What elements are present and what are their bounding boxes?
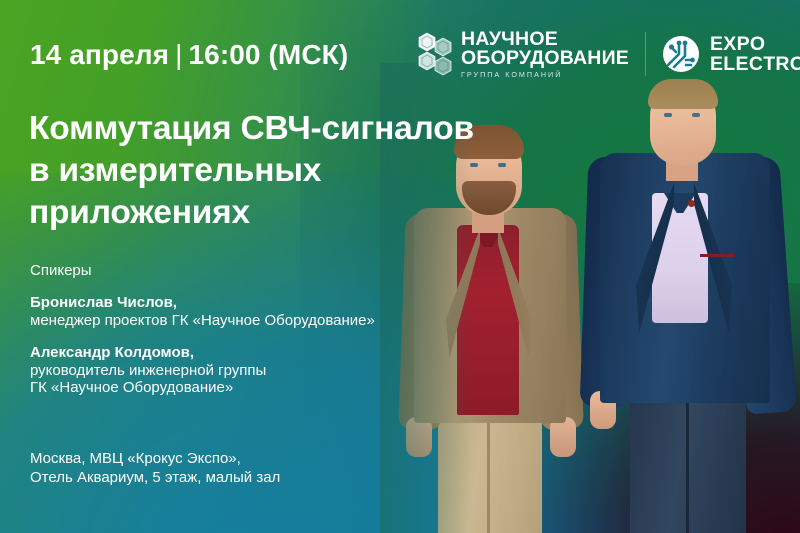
right-person-eye-left xyxy=(664,113,672,117)
right-person-eye-right xyxy=(692,113,700,117)
venue-line-1: Москва, МВЦ «Крокус Экспо», xyxy=(30,450,280,469)
venue-line-2: Отель Аквариум, 5 этаж, малый зал xyxy=(30,469,280,488)
speaker-role: менеджер проектов ГК «Научное Оборудован… xyxy=(30,312,450,330)
left-person-eye-right xyxy=(498,163,506,167)
logo-se-subtitle: ГРУППА КОМПАНИЙ xyxy=(461,71,629,78)
logo-divider xyxy=(645,32,646,76)
right-person-hair xyxy=(648,79,718,109)
speaker-item: Александр Колдомов, руководитель инженер… xyxy=(30,344,450,397)
page-title: Коммутация СВЧ-сигналов в измерительных … xyxy=(29,108,499,234)
left-person-hand-right xyxy=(550,417,576,457)
speakers-heading: Спикеры xyxy=(30,262,450,279)
title-line-2: в измерительных xyxy=(29,150,499,192)
title-line-1: Коммутация СВЧ-сигналов xyxy=(29,108,499,150)
speaker-name: Александр Колдомов, xyxy=(30,344,450,362)
logo-expo-electronica-text: EXPO ELECTRONICA xyxy=(710,34,800,74)
right-person-lapel-pin xyxy=(688,200,695,207)
left-person-hand-left xyxy=(406,417,432,457)
left-person-shirt xyxy=(457,225,519,415)
event-time: 16:00 (МСК) xyxy=(188,39,348,70)
webinar-banner: НАУЧНОЕ ОБОРУДОВАНИЕ ГРУППА КОМПАНИЙ xyxy=(0,0,800,533)
title-line-3: приложениях xyxy=(29,192,499,234)
hexagon-cluster-icon xyxy=(418,32,452,76)
speaker-name: Бронислав Числов, xyxy=(30,294,450,312)
event-datetime: 14 апреля|16:00 (МСК) xyxy=(30,39,348,71)
datetime-separator: | xyxy=(169,39,188,71)
speaker-photo-right xyxy=(578,63,788,533)
venue-address: Москва, МВЦ «Крокус Экспо», Отель Аквари… xyxy=(30,450,280,487)
logo-ee-line1: EXPO xyxy=(710,34,800,54)
logo-se-line2: ОБОРУДОВАНИЕ xyxy=(461,49,629,68)
speaker-role: руководитель инженерной группыГК «Научно… xyxy=(30,362,450,397)
expo-electronica-circle-icon xyxy=(662,35,700,73)
logo-scientific-equipment[interactable]: НАУЧНОЕ ОБОРУДОВАНИЕ ГРУППА КОМПАНИЙ xyxy=(418,30,629,78)
logo-ee-line2: ELECTRONICA xyxy=(710,54,800,74)
speakers-block: Спикеры Бронислав Числов, менеджер проек… xyxy=(30,262,450,412)
logo-scientific-equipment-text: НАУЧНОЕ ОБОРУДОВАНИЕ ГРУППА КОМПАНИЙ xyxy=(461,30,629,78)
logo-row: НАУЧНОЕ ОБОРУДОВАНИЕ ГРУППА КОМПАНИЙ xyxy=(418,30,800,78)
speaker-item: Бронислав Числов, менеджер проектов ГК «… xyxy=(30,294,450,329)
right-person-pocket-square xyxy=(700,254,734,257)
right-person-jeans xyxy=(630,383,746,533)
logo-expo-electronica[interactable]: EXPO ELECTRONICA xyxy=(662,34,800,74)
event-date: 14 апреля xyxy=(30,39,169,70)
